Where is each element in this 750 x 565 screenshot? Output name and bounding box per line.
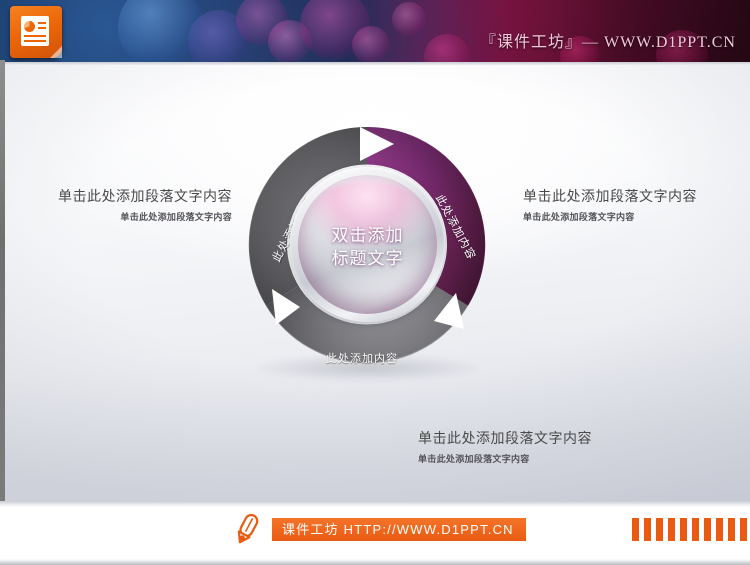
- frame-left-edge: [0, 60, 5, 505]
- footer-bottom-divider: [0, 559, 750, 565]
- bokeh-decoration: [392, 2, 426, 36]
- header-banner: 『课件工坊』— WWW.D1PPT.CN: [0, 0, 750, 64]
- callout-right-subtitle: 单击此处添加段落文字内容: [523, 210, 697, 223]
- powerpoint-logo-icon: [10, 6, 62, 58]
- footer-url-label: 课件工坊 HTTP://WWW.D1PPT.CN: [272, 518, 526, 541]
- callout-left-title: 单击此处添加段落文字内容: [58, 186, 232, 206]
- center-sphere-text: 双击添加 标题文字: [298, 224, 437, 270]
- slide-canvas: 『课件工坊』— WWW.D1PPT.CN: [0, 0, 750, 565]
- footer-top-divider: [0, 501, 750, 507]
- ring-segment-bottom-label: 此处添加内容: [326, 350, 398, 366]
- bokeh-decoration: [268, 20, 312, 64]
- frame-top-divider: [0, 62, 750, 65]
- logo-document-shape: [21, 16, 49, 46]
- callout-right[interactable]: 单击此处添加段落文字内容 单击此处添加段落文字内容: [523, 186, 697, 223]
- logo-text-line: [38, 22, 46, 24]
- cycle-diagram: 此处添加内容 此处添加内容 此处添加内容 双击添加 标题文字: [242, 117, 492, 385]
- callout-bottom-subtitle: 单击此处添加段落文字内容: [418, 452, 592, 465]
- logo-text-line: [38, 27, 46, 29]
- callout-bottom-title: 单击此处添加段落文字内容: [418, 428, 592, 448]
- pencil-icon: [232, 512, 262, 546]
- logo-text-line: [24, 40, 46, 42]
- callout-left[interactable]: 单击此处添加段落文字内容 单击此处添加段落文字内容: [58, 186, 232, 223]
- callout-bottom[interactable]: 单击此处添加段落文字内容 单击此处添加段落文字内容: [418, 428, 592, 465]
- footer-stripes-decoration: [632, 518, 750, 541]
- bokeh-decoration: [188, 10, 250, 64]
- header-title: 『课件工坊』— WWW.D1PPT.CN: [480, 28, 736, 52]
- bokeh-decoration: [300, 0, 370, 60]
- center-sphere-bezel: 双击添加 标题文字: [290, 167, 445, 322]
- center-title-line1: 双击添加: [298, 224, 437, 247]
- center-title-line2: 标题文字: [298, 247, 437, 270]
- logo-pie-chart-shape: [24, 21, 35, 32]
- logo-text-line: [24, 35, 46, 37]
- bokeh-decoration: [118, 0, 204, 64]
- bokeh-decoration: [236, 0, 288, 46]
- bokeh-decoration: [424, 34, 470, 64]
- center-sphere[interactable]: 双击添加 标题文字: [298, 175, 437, 314]
- callout-left-subtitle: 单击此处添加段落文字内容: [58, 210, 232, 223]
- callout-right-title: 单击此处添加段落文字内容: [523, 186, 697, 206]
- bokeh-decoration: [352, 26, 390, 64]
